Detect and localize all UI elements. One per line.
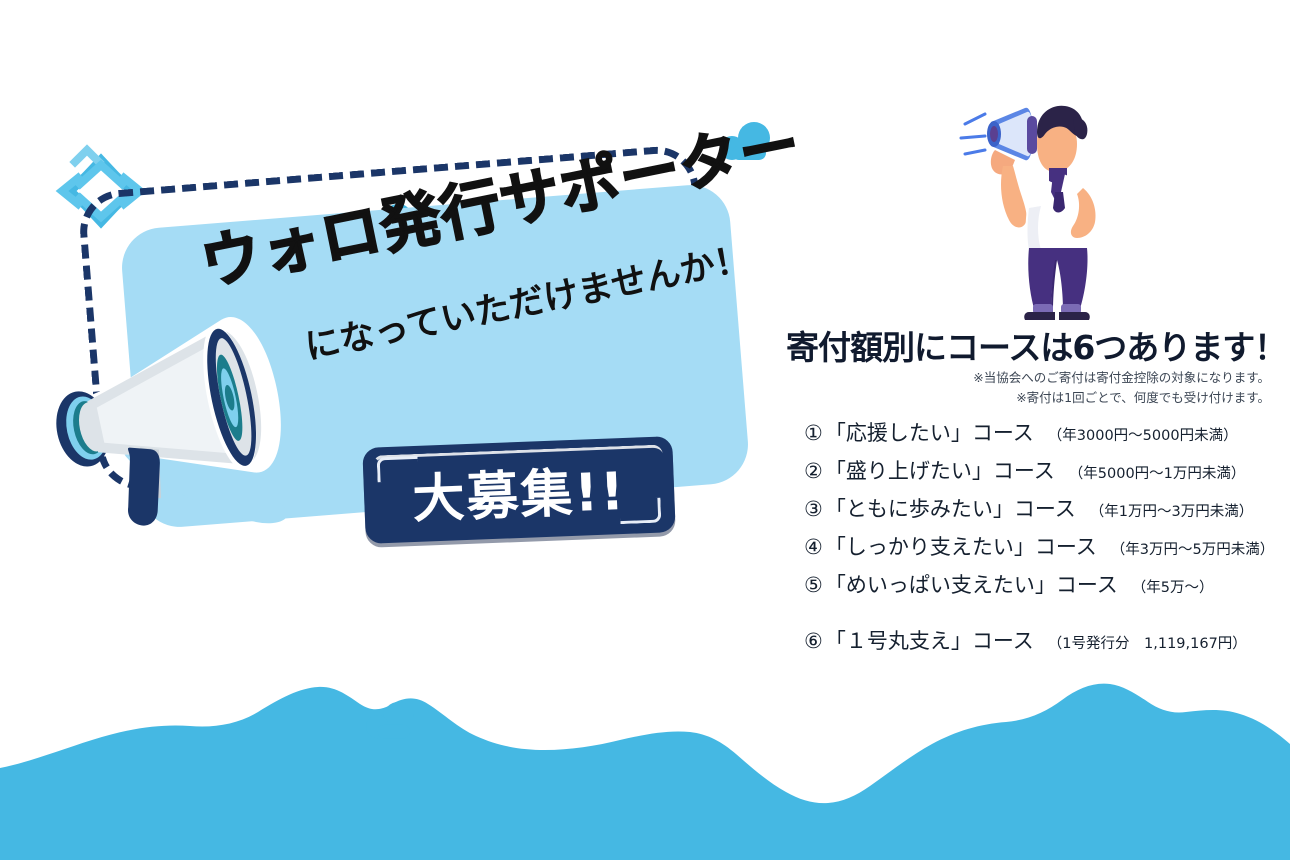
donation-courses-panel: 寄付額別にコースは6つあります！ ※当協会へのご寄付は寄付金控除の対象になります… <box>786 330 1278 663</box>
mountains-shape <box>0 640 1290 860</box>
list-item: ⑥ 「１号丸支え」コース （1号発行分 1,119,167円） <box>804 625 1278 655</box>
note-line: ※当協会へのご寄付は寄付金控除の対象になります。 <box>786 368 1270 387</box>
course-number: ③ <box>804 497 823 521</box>
note-line: ※寄付は1回ごとで、何度でも受け付けます。 <box>786 388 1270 407</box>
course-name: 「ともに歩みたい」コース <box>825 493 1076 523</box>
course-list: ① 「応援したい」コース （年3000円～5000円未満） ② 「盛り上げたい」… <box>786 417 1278 655</box>
course-range: （年5000円～1万円未満） <box>1069 462 1246 483</box>
cloud-icon <box>358 698 422 744</box>
course-range: （1号発行分 1,119,167円） <box>1048 632 1247 653</box>
course-number: ① <box>804 421 823 445</box>
course-number: ⑤ <box>804 573 823 597</box>
badge-label: 大募集!! <box>362 436 675 544</box>
course-range: （年3万円～5万円未満） <box>1111 538 1274 559</box>
course-number: ④ <box>804 535 823 559</box>
course-name: 「しっかり支えたい」コース <box>825 531 1097 561</box>
course-name: 「盛り上げたい」コース <box>825 455 1055 485</box>
list-item: ③ 「ともに歩みたい」コース （年1万円～3万円未満） <box>804 493 1278 523</box>
panel-title: 寄付額別にコースは6つあります！ <box>786 330 1278 366</box>
course-number: ⑥ <box>804 629 823 653</box>
list-item: ④ 「しっかり支えたい」コース （年3万円～5万円未満） <box>804 531 1278 561</box>
course-range: （年5万～） <box>1132 576 1214 597</box>
course-range: （年3000円～5000円未満） <box>1048 424 1238 445</box>
poster-canvas: ウォロ発行サポーター になっていただけませんか！ 大募集!! <box>0 0 1290 860</box>
megaphone-icon <box>30 300 300 570</box>
course-number: ② <box>804 459 823 483</box>
course-name: 「応援したい」コース <box>825 417 1034 447</box>
recruiting-badge: 大募集!! <box>362 436 675 544</box>
course-name: 「めいっぱい支えたい」コース <box>825 569 1118 599</box>
course-name: 「１号丸支え」コース <box>825 625 1034 655</box>
person-with-megaphone-icon <box>955 88 1130 320</box>
list-item: ① 「応援したい」コース （年3000円～5000円未満） <box>804 417 1278 447</box>
panel-notes: ※当協会へのご寄付は寄付金控除の対象になります。 ※寄付は1回ごとで、何度でも受… <box>786 368 1270 407</box>
course-range: （年1万円～3万円未満） <box>1090 500 1253 521</box>
list-item: ⑤ 「めいっぱい支えたい」コース （年5万～） <box>804 569 1278 599</box>
list-item: ② 「盛り上げたい」コース （年5000円～1万円未満） <box>804 455 1278 485</box>
